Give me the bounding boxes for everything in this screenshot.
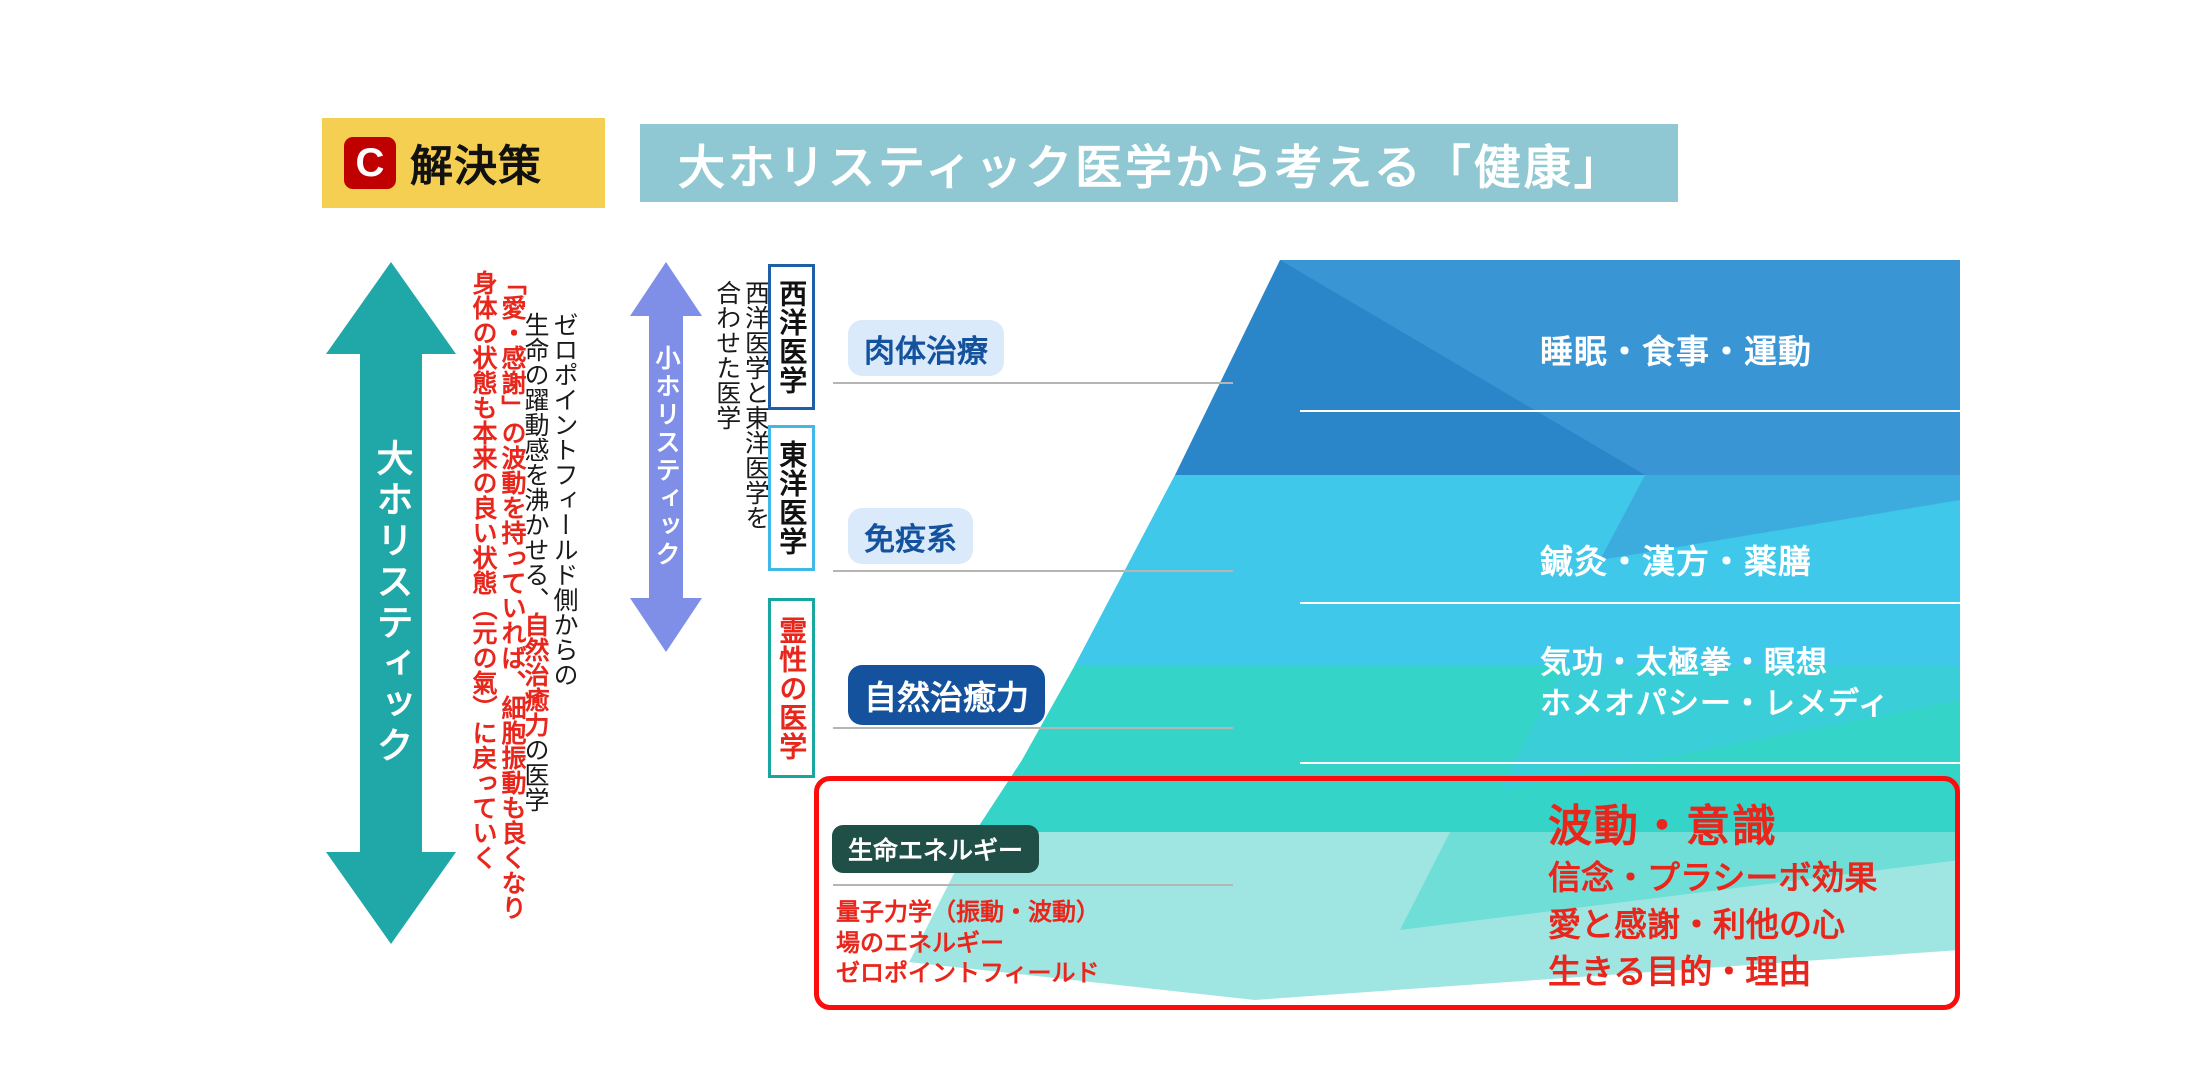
wave-detail-line2: 愛と感謝・利他の心 xyxy=(1548,902,1877,949)
wave-detail-line3: 生きる目的・理由 xyxy=(1548,949,1877,996)
wave-detail-line1: 信念・プラシーボ効果 xyxy=(1548,855,1877,902)
tier-label-wave-consciousness: 波動・意識 xyxy=(1548,790,1778,854)
connector-line-2 xyxy=(833,570,1233,572)
tier-underline-1 xyxy=(1300,410,1960,412)
wave-consciousness-details: 信念・プラシーボ効果 愛と感謝・利他の心 生きる目的・理由 xyxy=(1548,855,1877,996)
connector-line-4 xyxy=(833,884,1233,886)
tier-underline-3 xyxy=(1300,762,1960,764)
tier-label-healing-line1: 気功・太極拳・瞑想 xyxy=(1540,643,1890,684)
tier-label-physical: 睡眠・食事・運動 xyxy=(1540,325,1812,373)
connector-line-3 xyxy=(833,727,1233,729)
pill-immune-system: 免疫系 xyxy=(848,508,973,564)
quantum-notes: 量子力学（振動・波動） 場のエネルギー ゼロポイントフィールド xyxy=(836,898,1100,990)
pill-natural-healing: 自然治癒力 xyxy=(848,665,1045,725)
tier-underline-2 xyxy=(1300,602,1960,604)
tier-label-healing-line2: ホメオパシー・レメディ xyxy=(1540,684,1890,725)
quantum-note-line2: 場のエネルギー xyxy=(836,929,1100,960)
quantum-note-line3: ゼロポイントフィールド xyxy=(836,959,1100,990)
tier-label-healing: 気功・太極拳・瞑想 ホメオパシー・レメディ xyxy=(1540,643,1890,725)
connector-line-1 xyxy=(833,382,1233,384)
pill-life-energy: 生命エネルギー xyxy=(832,825,1039,873)
tier-label-immune: 鍼灸・漢方・薬膳 xyxy=(1540,535,1812,583)
diagram-canvas: C 解決策 大ホリスティック医学から考える「健康」 大ホリスティック 「愛・感謝… xyxy=(0,0,2200,1072)
pill-physical-treatment: 肉体治療 xyxy=(848,320,1004,376)
quantum-note-line1: 量子力学（振動・波動） xyxy=(836,898,1100,929)
